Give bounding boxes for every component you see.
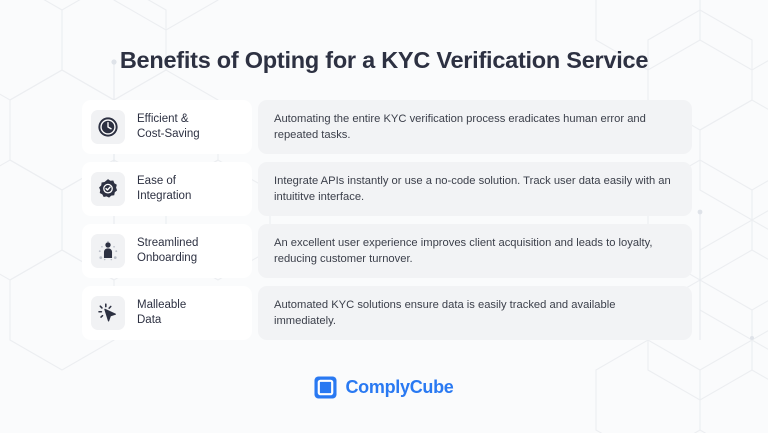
benefit-description: Automating the entire KYC verification p… [274, 111, 676, 144]
benefit-label-line2: Cost-Saving [137, 127, 200, 143]
footer-brand[interactable]: ComplyCube [0, 376, 768, 399]
benefit-label: Ease of Integration [137, 174, 191, 205]
person-icon [91, 234, 125, 268]
benefit-row: Efficient & Cost-Saving Automating the e… [82, 100, 692, 154]
benefit-label-card[interactable]: Streamlined Onboarding [82, 224, 252, 278]
benefit-label-card[interactable]: Ease of Integration [82, 162, 252, 216]
benefit-label: Efficient & Cost-Saving [137, 112, 200, 143]
benefit-label-line2: Data [137, 313, 186, 329]
complycube-logo-icon [314, 376, 337, 399]
benefit-row: Ease of Integration Integrate APIs insta… [82, 162, 692, 216]
benefit-label: Streamlined Onboarding [137, 236, 198, 267]
benefit-label-line1: Ease of [137, 175, 176, 187]
benefit-row: Streamlined Onboarding An excellent user… [82, 224, 692, 278]
page-title: Benefits of Opting for a KYC Verificatio… [0, 47, 768, 74]
benefit-label: Malleable Data [137, 298, 186, 329]
benefit-description: Integrate APIs instantly or use a no-cod… [274, 173, 676, 206]
benefit-label-card[interactable]: Malleable Data [82, 286, 252, 340]
infographic-root: Benefits of Opting for a KYC Verificatio… [0, 0, 768, 433]
brand-name: ComplyCube [345, 377, 453, 398]
benefit-row: Malleable Data Automated KYC solutions e… [82, 286, 692, 340]
benefit-label-line1: Efficient & [137, 113, 189, 125]
benefit-description: An excellent user experience improves cl… [274, 235, 676, 268]
benefit-description: Automated KYC solutions ensure data is e… [274, 297, 676, 330]
click-cursor-icon [91, 296, 125, 330]
benefit-description-card: Integrate APIs instantly or use a no-cod… [258, 162, 692, 216]
benefit-label-card[interactable]: Efficient & Cost-Saving [82, 100, 252, 154]
benefit-label-line1: Streamlined [137, 237, 198, 249]
benefit-description-card: Automating the entire KYC verification p… [258, 100, 692, 154]
benefit-label-line2: Onboarding [137, 251, 198, 267]
clock-icon [91, 110, 125, 144]
benefit-description-card: An excellent user experience improves cl… [258, 224, 692, 278]
gear-check-icon [91, 172, 125, 206]
benefit-description-card: Automated KYC solutions ensure data is e… [258, 286, 692, 340]
benefits-list: Efficient & Cost-Saving Automating the e… [82, 100, 692, 340]
benefit-label-line2: Integration [137, 189, 191, 205]
benefit-label-line1: Malleable [137, 299, 186, 311]
